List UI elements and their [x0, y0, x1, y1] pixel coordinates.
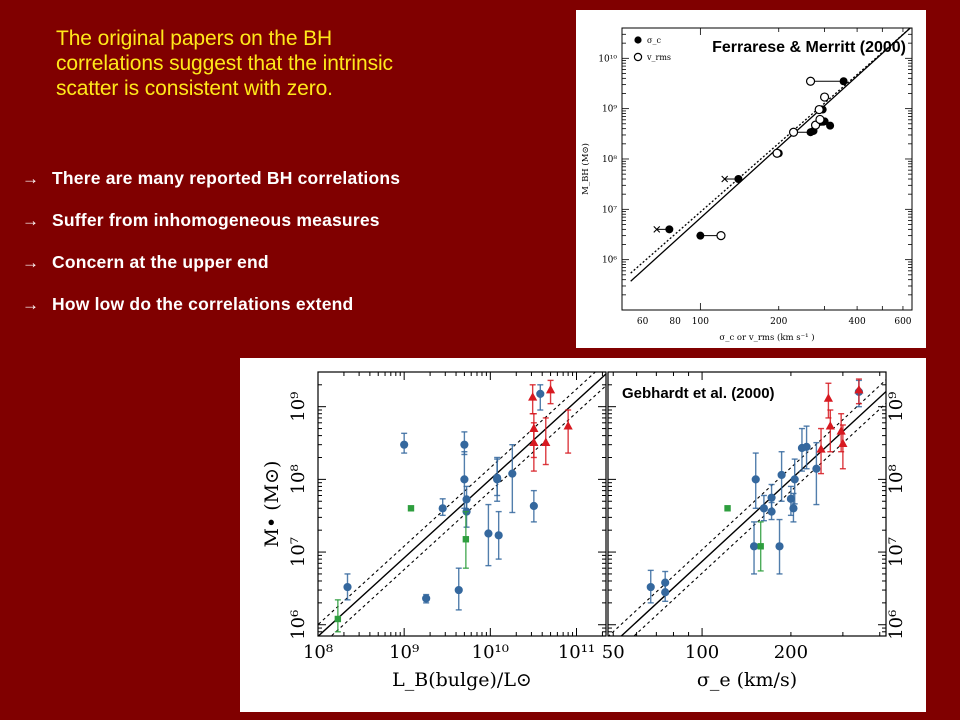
y-tick-label: 10⁸ [602, 155, 617, 165]
data-point [790, 128, 798, 136]
data-point [717, 232, 725, 240]
data-point [816, 115, 824, 123]
list-item: → Suffer from inhomogeneous measures [22, 210, 552, 231]
data-point [461, 441, 468, 448]
x-tick-label: 10⁸ [303, 642, 333, 663]
list-item-label: There are many reported BH correlations [52, 168, 400, 189]
x-tick-label: 100 [685, 642, 719, 663]
legend-label-sigma: σ_c [647, 36, 661, 45]
x-tick-label: 200 [770, 317, 787, 327]
data-point [776, 543, 783, 550]
x-tick-label: 10¹⁰ [472, 642, 509, 663]
data-point [530, 502, 537, 509]
figure-gebhardt: 10⁸10⁹10¹⁰10¹¹10⁶10⁷10⁸10⁹L_B(bulge)/L⊙M… [240, 358, 926, 712]
plot-area: 608010020040060010⁶10⁷10⁸10⁹10¹⁰σ_c or v… [580, 28, 912, 343]
data-point [807, 77, 815, 85]
data-point [335, 616, 341, 622]
data-point [408, 505, 414, 511]
data-point [665, 225, 673, 233]
y-tick-label: 10¹⁰ [598, 54, 617, 64]
y-tick-label: 10⁸ [288, 464, 309, 494]
chart-title: Gebhardt et al. (2000) [622, 385, 775, 402]
x-tick-label: 80 [669, 317, 681, 327]
x-tick-label: 50 [602, 642, 625, 663]
data-point [826, 122, 834, 130]
figure-ferrarese-merritt: 608010020040060010⁶10⁷10⁸10⁹10¹⁰σ_c or v… [576, 10, 926, 348]
data-point [760, 505, 767, 512]
data-point [495, 532, 502, 539]
y-tick-label: 10⁹ [602, 105, 617, 115]
data-point [455, 586, 462, 593]
data-point [696, 232, 704, 240]
chart-gebhardt: 10⁸10⁹10¹⁰10¹¹10⁶10⁷10⁸10⁹L_B(bulge)/L⊙M… [240, 358, 926, 712]
chart-title: Ferrarese & Merritt (2000) [712, 39, 906, 56]
data-point [778, 471, 785, 478]
page-title-line-2: correlations suggest that the intrinsic [56, 51, 456, 76]
x-tick-label: 200 [774, 642, 808, 663]
arrow-right-icon: → [22, 295, 52, 315]
list-item-label: Suffer from inhomogeneous measures [52, 210, 380, 231]
page-title-line-1: The original papers on the BH [56, 26, 456, 51]
data-point [344, 583, 351, 590]
data-point [791, 476, 798, 483]
data-point [768, 508, 775, 515]
data-point [757, 543, 763, 549]
data-point [752, 476, 759, 483]
y-tick-label: 10⁶ [886, 610, 907, 640]
list-item: → How low do the correlations extend [22, 294, 552, 315]
data-point [821, 93, 829, 101]
data-point [401, 441, 408, 448]
data-point [485, 530, 492, 537]
data-point [537, 390, 544, 397]
data-point [815, 106, 823, 114]
data-point [662, 589, 669, 596]
list-item-label: How low do the correlations extend [52, 294, 353, 315]
data-point [647, 583, 654, 590]
legend-marker-sigma-icon [634, 36, 641, 43]
x-axis-label: σ_e (km/s) [697, 669, 797, 691]
page-title-line-3: scatter is consistent with zero. [56, 76, 456, 101]
data-point [790, 505, 797, 512]
y-tick-label: 10⁶ [288, 610, 309, 640]
x-tick-label: 60 [637, 317, 649, 327]
y-tick-label: 10⁹ [288, 392, 309, 422]
list-item: → There are many reported BH correlation… [22, 168, 552, 189]
data-point [509, 470, 516, 477]
data-point [463, 536, 469, 542]
y-tick-label: 10⁶ [602, 256, 617, 266]
legend-marker-vrms-icon [634, 53, 641, 60]
page-title: The original papers on the BH correlatio… [56, 26, 456, 101]
list-item: → Concern at the upper end [22, 252, 552, 273]
y-tick-label: 10⁹ [886, 392, 907, 422]
y-tick-label: 10⁷ [886, 537, 907, 567]
x-tick-label: 400 [849, 317, 866, 327]
y-tick-label: 10⁷ [288, 537, 309, 567]
data-point [494, 474, 501, 481]
x-axis-label: L_B(bulge)/L⊙ [392, 669, 532, 691]
data-point [803, 443, 810, 450]
data-point [750, 543, 757, 550]
x-tick-label: 100 [692, 317, 709, 327]
plot-area-right: 5010020010⁶10⁷10⁸10⁹ [594, 369, 907, 673]
arrow-right-icon: → [22, 169, 52, 189]
data-point [768, 494, 775, 501]
y-axis-label: M• (M⊙) [261, 461, 283, 548]
data-point [461, 476, 468, 483]
data-point [734, 175, 742, 183]
arrow-right-icon: → [22, 211, 52, 231]
data-point [439, 505, 446, 512]
bullet-list: → There are many reported BH correlation… [22, 168, 552, 336]
x-tick-label: 10⁹ [389, 642, 419, 663]
axes-frame [608, 372, 886, 636]
x-tick-label: 10¹¹ [558, 642, 595, 663]
chart-ferrarese-merritt: 608010020040060010⁶10⁷10⁸10⁹10¹⁰σ_c or v… [576, 10, 926, 348]
plot-area-left: 10⁸10⁹10¹⁰10¹¹10⁶10⁷10⁸10⁹ [288, 359, 610, 663]
y-axis-label: M_BH (M⊙) [580, 143, 591, 195]
list-item-label: Concern at the upper end [52, 252, 269, 273]
arrow-right-icon: → [22, 253, 52, 273]
x-axis-label: σ_c or v_rms (km s⁻¹ ) [719, 332, 814, 343]
axes-frame [622, 28, 912, 310]
data-point [773, 149, 781, 157]
y-tick-label: 10⁷ [602, 205, 617, 215]
data-point [423, 595, 430, 602]
data-point [813, 465, 820, 472]
y-tick-label: 10⁸ [886, 464, 907, 494]
data-point [840, 77, 848, 85]
legend-label-vrms: v_rms [646, 53, 671, 62]
data-point [724, 505, 730, 511]
x-tick-label: 600 [894, 317, 911, 327]
slide-root: The original papers on the BH correlatio… [0, 0, 960, 720]
